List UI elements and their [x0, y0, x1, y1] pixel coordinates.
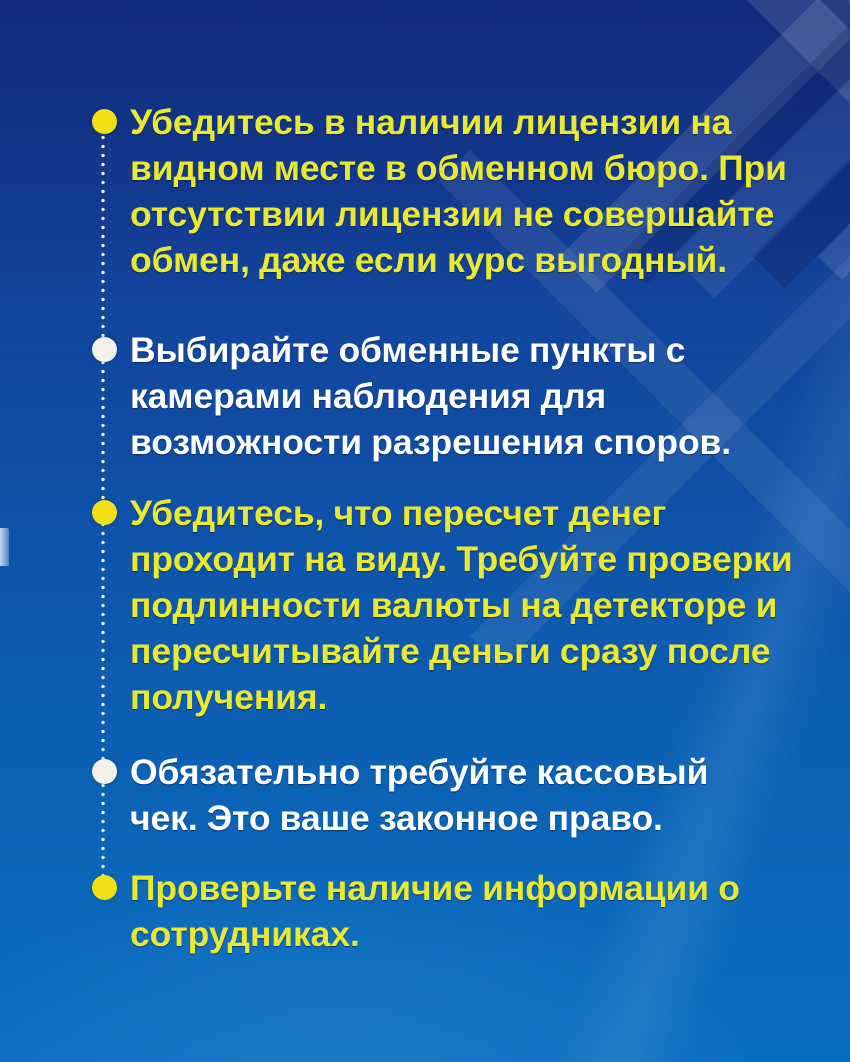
list-item-text: Убедитесь в наличии лицензии на видном м… [78, 99, 830, 283]
poster-canvas: Убедитесь в наличии лицензии на видном м… [0, 0, 850, 1062]
list-item: Выбирайте обменные пункты с камерами наб… [78, 327, 838, 465]
list-item-text: Обязательно требуйте кассовый чек. Это в… [78, 749, 740, 841]
list-item-text: Проверьте наличие информации о сотрудник… [78, 865, 800, 957]
list-item-text: Выбирайте обменные пункты с камерами наб… [78, 327, 750, 465]
list-item: Обязательно требуйте кассовый чек. Это в… [78, 749, 838, 841]
bullet-dot-icon [92, 759, 117, 784]
list-item-text: Убедитесь, что пересчет денег проходит н… [78, 490, 820, 720]
bullet-dot-icon [92, 875, 117, 900]
bullet-dot-icon [92, 337, 117, 362]
bullet-dot-icon [92, 109, 117, 134]
list-item: Проверьте наличие информации о сотрудник… [78, 865, 838, 957]
list-item: Убедитесь, что пересчет денег проходит н… [78, 490, 838, 720]
list-item: Убедитесь в наличии лицензии на видном м… [78, 99, 838, 283]
bullet-dot-icon [92, 500, 117, 525]
content-area: Убедитесь в наличии лицензии на видном м… [0, 0, 850, 1062]
